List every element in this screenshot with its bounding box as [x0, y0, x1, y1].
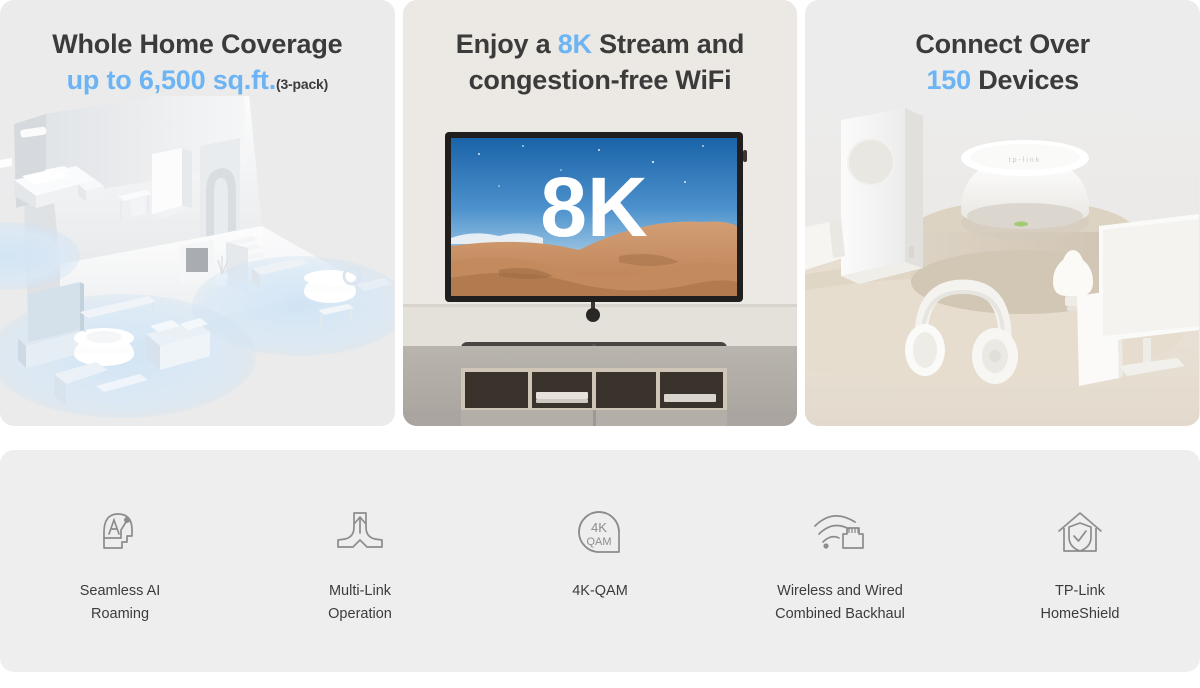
feature-highlights-page: Whole Home Coverage up to 6,500 sq.ft.(3… — [0, 0, 1200, 688]
card-1-title-line-1: Whole Home Coverage — [0, 26, 395, 62]
card-1-pack-note: (3-pack) — [276, 76, 328, 92]
card-8k-stream: Enjoy a 8K Stream and congestion-free Wi… — [403, 0, 798, 426]
card-1-heading: Whole Home Coverage up to 6,500 sq.ft.(3… — [0, 0, 395, 98]
card-2-heading: Enjoy a 8K Stream and congestion-free Wi… — [403, 0, 798, 98]
card-connect-devices: Connect Over 150 Devices — [805, 0, 1200, 426]
feature-label: Multi-Link Operation — [255, 580, 465, 627]
feature-label: TP-Link HomeShield — [975, 580, 1185, 627]
card-1-title-line-2: up to 6,500 sq.ft.(3-pack) — [0, 62, 395, 98]
feature-label-line-1: Seamless AI — [15, 580, 225, 603]
svg-text:tp-link: tp-link — [1009, 157, 1042, 164]
card-2-accent-text: 8K — [558, 29, 592, 59]
feature-label-line-2: HomeShield — [975, 603, 1185, 626]
qam-icon-bottom-text: QAM — [586, 536, 611, 548]
ai-head-icon — [15, 502, 225, 564]
isometric-floorplan-illustration — [0, 96, 395, 426]
home-shield-icon — [975, 502, 1185, 564]
hero-card-row: Whole Home Coverage up to 6,500 sq.ft.(3… — [0, 0, 1200, 426]
feature-seamless-ai-roaming[interactable]: Seamless AI Roaming — [15, 502, 225, 627]
tv-screen-8k-text: 8K — [540, 160, 647, 254]
feature-label: Wireless and Wired Combined Backhaul — [735, 580, 945, 627]
feature-tp-link-homeshield[interactable]: TP-Link HomeShield — [975, 502, 1185, 627]
4k-qam-icon: 4K QAM — [495, 502, 705, 564]
product-podium-illustration: tp-link — [805, 100, 1200, 426]
feature-label: Seamless AI Roaming — [15, 580, 225, 627]
card-3-title-post: Devices — [971, 65, 1079, 95]
card-2-title-post: Stream and — [592, 29, 744, 59]
card-3-title-line-1: Connect Over — [805, 26, 1200, 62]
feature-label-line-2: Combined Backhaul — [735, 603, 945, 626]
wifi-ethernet-icon — [735, 502, 945, 564]
card-2-title-pre: Enjoy a — [456, 29, 558, 59]
feature-label-line-2: Operation — [255, 603, 465, 626]
feature-label-line-1: 4K-QAM — [495, 580, 705, 603]
feature-combined-backhaul[interactable]: Wireless and Wired Combined Backhaul — [735, 502, 945, 627]
feature-label-line-1: TP-Link — [975, 580, 1185, 603]
card-whole-home-coverage: Whole Home Coverage up to 6,500 sq.ft.(3… — [0, 0, 395, 426]
feature-4k-qam[interactable]: 4K QAM 4K-QAM — [495, 502, 705, 603]
feature-multi-link-operation[interactable]: Multi-Link Operation — [255, 502, 465, 627]
feature-label: 4K-QAM — [495, 580, 705, 603]
feature-label-line-1: Multi-Link — [255, 580, 465, 603]
features-strip: Seamless AI Roaming Multi-Link Operation — [0, 450, 1200, 672]
qam-icon-top-text: 4K — [591, 520, 607, 535]
card-2-title-line-2: congestion-free WiFi — [403, 62, 798, 98]
feature-label-line-1: Wireless and Wired — [735, 580, 945, 603]
card-2-title-line-1: Enjoy a 8K Stream and — [403, 26, 798, 62]
tv-scene-illustration: 8K — [403, 110, 798, 426]
card-3-heading: Connect Over 150 Devices — [805, 0, 1200, 98]
multi-link-icon — [255, 502, 465, 564]
card-1-accent-text: up to 6,500 sq.ft. — [67, 65, 276, 95]
card-3-accent-text: 150 — [926, 65, 970, 95]
card-3-title-line-2: 150 Devices — [805, 62, 1200, 98]
feature-label-line-2: Roaming — [15, 603, 225, 626]
